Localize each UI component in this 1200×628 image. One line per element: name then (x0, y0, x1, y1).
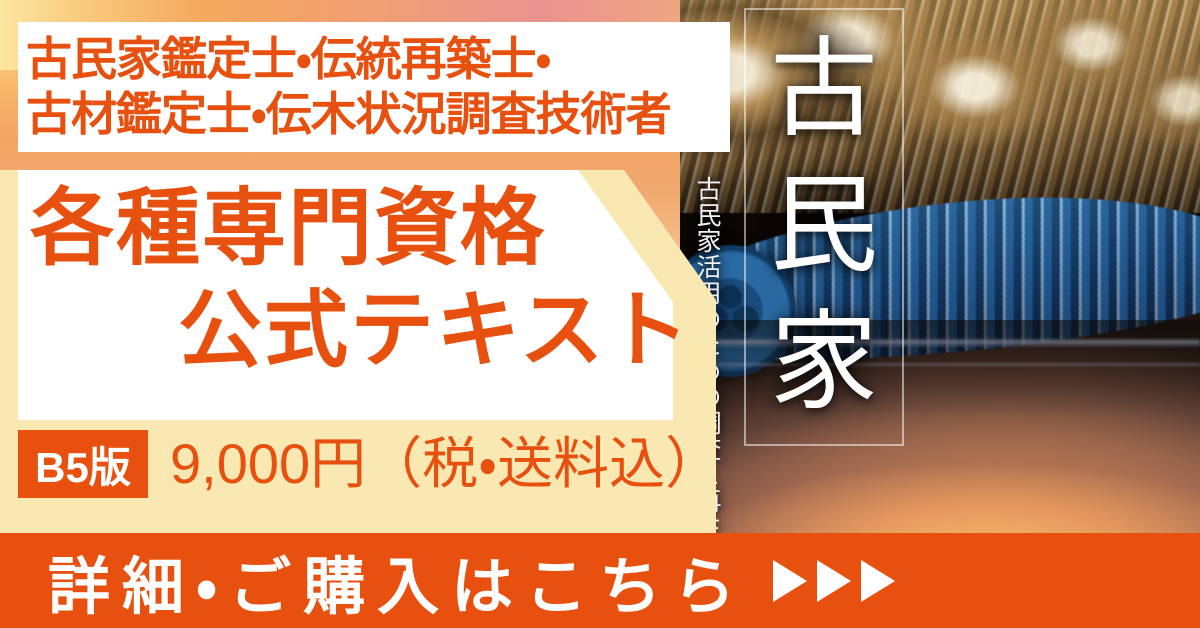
triangle-right-icon (861, 560, 895, 602)
book-title: 古 民 家 (744, 8, 904, 446)
format-badge: B5版 (18, 430, 148, 498)
book-title-char-1: 古 (770, 37, 878, 145)
triangle-right-icon (773, 560, 807, 602)
book-title-char-3: 家 (770, 310, 878, 418)
promo-banner: 古 民 家 伝統構法 古民家活用のための調査と再生の 古民家鑑定士・伝統再築士・… (0, 0, 1200, 628)
certifications-line-2: 古材鑑定士・伝木状況調査技術者 (26, 87, 730, 142)
book-cover-photo: 古 民 家 伝統構法 古民家活用のための調査と再生の (680, 0, 1200, 533)
headline-line-1: 各種専門資格 (30, 186, 546, 270)
price-text: 9,000円（税・送料込） (170, 432, 721, 496)
cta-arrows (773, 560, 895, 602)
cta-bar[interactable]: 詳細・ご購入はこちら (0, 533, 1200, 628)
book-title-char-2: 民 (770, 173, 878, 281)
certifications-text: 古民家鑑定士・伝統再築士・ 古材鑑定士・伝木状況調査技術者 (18, 22, 730, 152)
headline-line-2: 公式テキスト (178, 288, 691, 372)
certifications-line-1: 古民家鑑定士・伝統再築士・ (26, 32, 730, 87)
cta-label: 詳細・ご購入はこちら (48, 536, 747, 626)
triangle-right-icon (817, 560, 851, 602)
